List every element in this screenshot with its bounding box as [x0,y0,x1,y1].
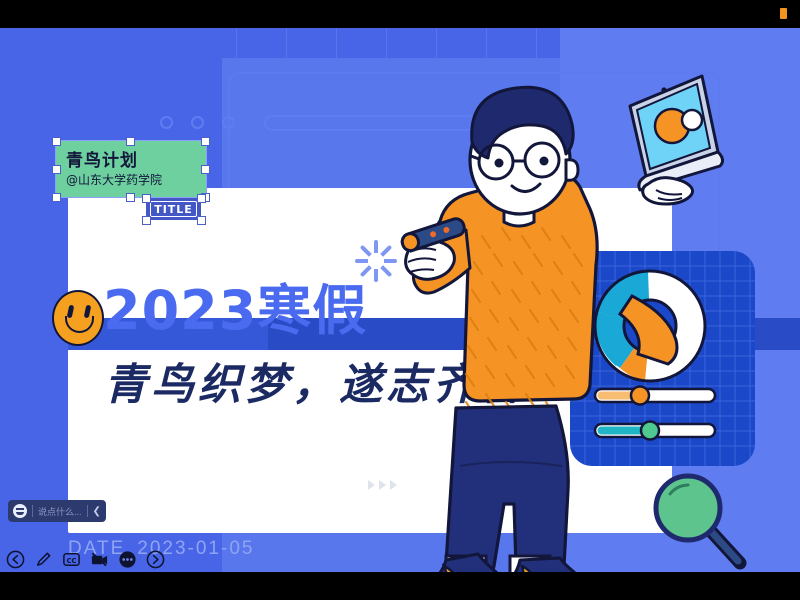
window-dot [191,116,204,129]
back-icon[interactable] [6,550,25,569]
resize-handle-w[interactable] [52,165,61,174]
smiley-icon [52,290,104,346]
sparkle-icon [355,240,397,282]
player-controls[interactable]: CC [6,550,165,569]
hero-illustration [400,56,800,572]
danmaku-placeholder: 说点什么... [38,505,82,518]
pencil-icon[interactable] [34,550,53,569]
resize-handle-ne[interactable] [201,137,210,146]
title-badge[interactable]: TITLE [146,198,201,220]
emoji-icon[interactable] [13,504,27,518]
danmaku-input-bar[interactable]: 说点什么... ❮ [8,500,106,522]
divider [87,505,88,517]
window-dot [160,116,173,129]
svg-text:CC: CC [67,557,77,565]
slide-canvas[interactable]: 2023寒假 青鸟织梦，遂志齐鲁 DATE2023-01-05 青鸟计划 @山东… [0,28,800,572]
cc-icon[interactable]: CC [62,550,81,569]
resize-handle-sw[interactable] [52,193,61,202]
resize-handle-s[interactable] [126,193,135,202]
forward-icon[interactable] [146,550,165,569]
resize-handle-nw[interactable] [52,137,61,146]
triple-triangle-icon [368,480,397,490]
window-dots [160,116,235,129]
resize-handle-e[interactable] [201,165,210,174]
brand-subtitle: @山东大学药学院 [66,171,162,188]
title-badge-label: TITLE [150,201,197,217]
resize-handle-n[interactable] [126,137,135,146]
badge-handle-sw[interactable] [142,216,151,225]
player-stage: 2023寒假 青鸟织梦，遂志齐鲁 DATE2023-01-05 青鸟计划 @山东… [0,0,800,600]
more-icon[interactable] [118,550,137,569]
page-title: 2023寒假 [103,266,367,345]
recording-marker [780,8,787,19]
brand-title: 青鸟计划 [66,146,138,171]
brand-text-box[interactable]: 青鸟计划 @山东大学药学院 [56,141,206,197]
badge-handle-ne[interactable] [197,194,206,203]
letterbox-bottom [0,572,800,600]
window-dot [222,116,235,129]
divider [32,505,33,517]
chevron-left-icon[interactable]: ❮ [93,506,101,517]
badge-handle-se[interactable] [197,216,206,225]
badge-handle-nw[interactable] [142,194,151,203]
video-off-icon[interactable] [90,550,109,569]
